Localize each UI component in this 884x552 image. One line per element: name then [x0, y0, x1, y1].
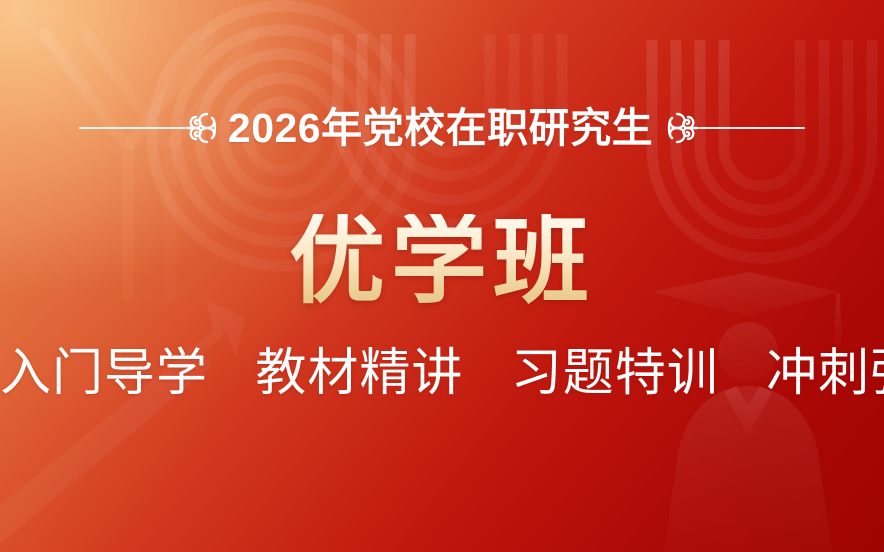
- rule-right: [698, 127, 805, 129]
- banner-headline: 优学班: [0, 214, 884, 310]
- feature-item-4: 冲刺强化: [766, 344, 884, 401]
- rule-left: [79, 127, 186, 129]
- feature-list: 入门导学 教材精讲 习题特训 冲刺强化: [0, 347, 884, 398]
- cloud-ornament-left-icon: [185, 108, 219, 148]
- feature-item-3: 习题特训: [511, 344, 719, 401]
- banner-content: 2026年党校在职研究生 优学班 入门导学 教材精讲 习题特训: [0, 0, 884, 552]
- feature-item-2: 教材精讲: [255, 344, 463, 401]
- cloud-ornament-right-icon: [665, 108, 699, 148]
- banner-subtitle: 2026年党校在职研究生: [228, 108, 653, 149]
- subtitle-row: 2026年党校在职研究生: [0, 99, 884, 157]
- feature-item-1: 入门导学: [0, 344, 208, 401]
- promo-banner: 2026年党校在职研究生 优学班 入门导学 教材精讲 习题特训: [0, 0, 884, 552]
